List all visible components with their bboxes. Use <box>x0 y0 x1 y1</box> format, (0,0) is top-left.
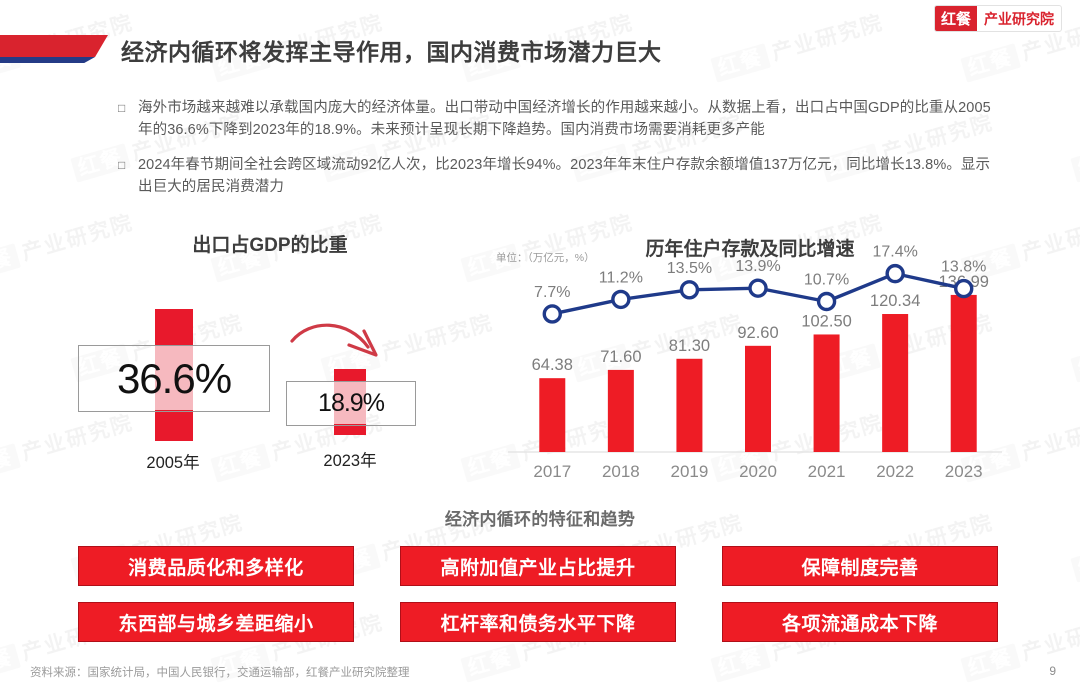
page-number: 9 <box>1049 664 1056 678</box>
features-grid: 消费品质化和多样化 高附加值产业占比提升 保障制度完善 东西部与城乡差距缩小 杠… <box>78 546 1002 642</box>
chart-bar <box>814 334 840 452</box>
x-axis-tick-label: 2021 <box>808 462 846 481</box>
bar-value-label: 120.34 <box>870 292 920 310</box>
line-marker <box>819 293 835 309</box>
bar-value-label: 81.30 <box>669 337 710 355</box>
x-axis-tick-label: 2019 <box>671 462 709 481</box>
line-value-label: 7.7% <box>534 284 570 301</box>
bullet-list: □ 海外市场越来越难以承载国内庞大的经济体量。出口带动中国经济增长的作用越来越小… <box>118 98 998 212</box>
line-value-label: 13.8% <box>941 259 986 276</box>
brand-logo: 红餐 产业研究院 <box>934 5 1062 32</box>
x-axis-tick-label: 2017 <box>533 462 571 481</box>
list-item: □ 2024年春节期间全社会跨区域流动92亿人次，比2023年增长94%。202… <box>118 155 998 198</box>
list-item: □ 海外市场越来越难以承载国内庞大的经济体量。出口带动中国经济增长的作用越来越小… <box>118 98 998 141</box>
line-marker <box>681 282 697 298</box>
value-bar-lower <box>155 410 193 441</box>
line-value-label: 10.7% <box>804 271 849 288</box>
source-note: 资料来源：国家统计局，中国人民银行，交通运输部，红餐产业研究院整理 <box>30 664 410 680</box>
x-axis-tick-label: 2022 <box>876 462 914 481</box>
line-value-label: 13.5% <box>667 260 712 277</box>
square-bullet-icon: □ <box>118 98 138 141</box>
chart-bar <box>539 378 565 452</box>
feature-box[interactable]: 杠杆率和债务水平下降 <box>400 602 676 642</box>
value-bar <box>334 369 366 381</box>
chart-bar <box>951 295 977 452</box>
bar-value-label: 102.50 <box>801 312 851 330</box>
chart-bar <box>676 359 702 452</box>
page-title: 经济内循环将发挥主导作用，国内消费市场潜力巨大 <box>121 33 662 67</box>
feature-box[interactable]: 保障制度完善 <box>722 546 998 586</box>
value-box: 18.9% <box>286 381 416 426</box>
line-marker <box>887 266 903 282</box>
title-decoration-blue <box>0 57 108 63</box>
export-gdp-title: 出口占GDP的比重 <box>60 230 480 257</box>
bar-value-label: 71.60 <box>600 348 641 366</box>
brand-logo-mark: 红餐 <box>935 6 977 31</box>
features-heading: 经济内循环的特征和趋势 <box>0 505 1080 530</box>
line-marker <box>613 291 629 307</box>
feature-box[interactable]: 各项流通成本下降 <box>722 602 998 642</box>
bullet-text: 海外市场越来越难以承载国内庞大的经济体量。出口带动中国经济增长的作用越来越小。从… <box>138 98 998 141</box>
export-gdp-item-2005: 36.6% 2005年 <box>78 309 278 469</box>
x-axis-tick-label: 2020 <box>739 462 777 481</box>
household-savings-figure: 历年住户存款及同比增速 单位：（万亿元，%） 64.38201771.60201… <box>490 228 1010 488</box>
x-axis-tick-label: 2023 <box>945 462 983 481</box>
year-label: 2023年 <box>286 447 414 471</box>
value-text: 18.9% <box>318 391 384 416</box>
chart-bar <box>608 370 634 452</box>
x-axis-tick-label: 2018 <box>602 462 640 481</box>
line-value-label: 17.4% <box>872 244 917 261</box>
export-gdp-figure: 出口占GDP的比重 36.6% 2005年 18.9% <box>60 228 480 478</box>
line-marker <box>956 281 972 297</box>
line-value-label: 13.9% <box>735 258 780 275</box>
savings-combo-chart: 64.38201771.60201881.30201992.602020102.… <box>490 228 1010 488</box>
title-decoration-red <box>0 35 108 57</box>
chart-bar <box>745 346 771 452</box>
line-value-label: 11.2% <box>599 269 643 286</box>
title-decoration <box>0 35 108 65</box>
slide-header: 经济内循环将发挥主导作用，国内消费市场潜力巨大 <box>0 27 1080 73</box>
watermark: 红餐产业研究院 <box>1069 306 1080 383</box>
brand-logo-word: 产业研究院 <box>977 6 1061 31</box>
value-bar <box>155 309 193 345</box>
value-text: 36.6% <box>117 358 231 400</box>
bar-value-label: 92.60 <box>737 324 778 342</box>
feature-box[interactable]: 东西部与城乡差距缩小 <box>78 602 354 642</box>
chart-bar <box>882 314 908 452</box>
feature-box[interactable]: 高附加值产业占比提升 <box>400 546 676 586</box>
year-label: 2005年 <box>78 449 268 473</box>
feature-box[interactable]: 消费品质化和多样化 <box>78 546 354 586</box>
bar-value-label: 64.38 <box>532 356 573 374</box>
value-box: 36.6% <box>78 345 270 412</box>
bullet-text: 2024年春节期间全社会跨区域流动92亿人次，比2023年增长94%。2023年… <box>138 155 998 198</box>
line-marker <box>750 280 766 296</box>
line-marker <box>544 306 560 322</box>
export-gdp-stage: 36.6% 2005年 18.9% 2023年 <box>60 275 480 475</box>
square-bullet-icon: □ <box>118 155 138 198</box>
export-gdp-item-2023: 18.9% 2023年 <box>286 369 446 479</box>
watermark: 红餐产业研究院 <box>1069 106 1080 183</box>
